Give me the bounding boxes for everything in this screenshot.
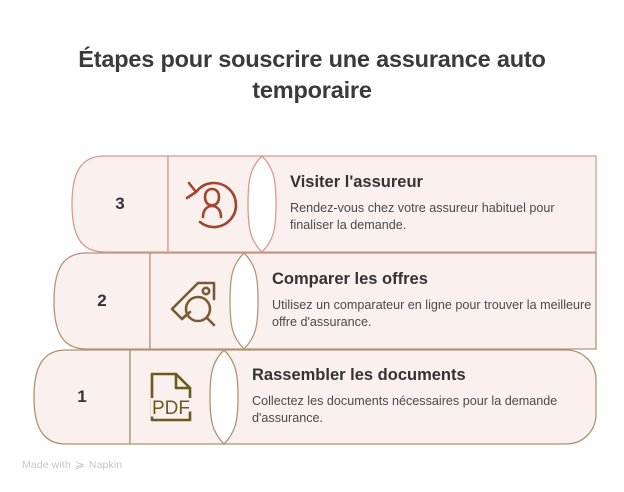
step-2-row: 2 Comparer les offres Utilisez un compar… bbox=[54, 253, 596, 349]
step-2-text: Comparer les offres Utilisez un comparat… bbox=[244, 253, 596, 349]
step-1-text: Rassembler les documents Collectez les d… bbox=[224, 350, 596, 444]
step-1-icon-slot bbox=[130, 350, 224, 444]
step-3-icon-slot bbox=[168, 156, 262, 252]
step-2-icon-slot bbox=[150, 253, 244, 349]
step-2-title: Comparer les offres bbox=[272, 270, 596, 290]
step-1-description: Collectez les documents nécessaires pour… bbox=[252, 393, 596, 429]
step-3-number: 3 bbox=[72, 156, 168, 252]
napkin-brand-label: Napkin bbox=[89, 459, 122, 471]
step-2-number: 2 bbox=[54, 253, 150, 349]
step-3-text: Visiter l'assureur Rendez-vous chez votr… bbox=[262, 156, 596, 252]
napkin-watermark: Made with ≽ Napkin bbox=[22, 459, 122, 471]
step-2-description: Utilisez un comparateur en ligne pour tr… bbox=[272, 297, 596, 333]
napkin-logo-icon: ≽ bbox=[75, 459, 85, 471]
step-1-title: Rassembler les documents bbox=[252, 366, 596, 386]
made-with-label: Made with bbox=[22, 459, 71, 471]
step-3-title: Visiter l'assureur bbox=[290, 173, 596, 193]
step-3-row: 3 Visiter l'assureur Rendez-vous chez vo… bbox=[72, 156, 596, 252]
step-1-number: 1 bbox=[34, 350, 130, 444]
step-3-description: Rendez-vous chez votre assureur habituel… bbox=[290, 200, 596, 236]
step-1-row: 1 Rassembler les documents Collectez les… bbox=[34, 350, 596, 444]
